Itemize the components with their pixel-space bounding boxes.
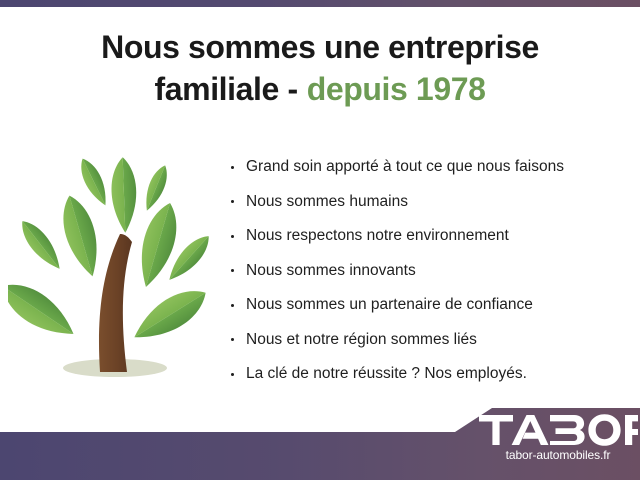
list-item: Nous sommes humains [228,185,628,220]
title-line-1: Nous sommes une entreprise [0,26,640,68]
top-accent-bar [0,0,640,7]
tree-illustration [8,150,223,385]
brand-tagline: tabor-automobiles.fr [478,448,638,462]
tree-trunk [99,234,132,372]
list-item: Grand soin apporté à tout ce que nous fa… [228,150,628,185]
list-item: Nous sommes un partenaire de confiance [228,288,628,323]
list-item: Nous sommes innovants [228,254,628,289]
list-item: Nous et notre région sommes liés [228,323,628,358]
title-line-2: familiale -depuis 1978 [0,68,640,110]
title-line-2-prefix: familiale - [154,71,297,107]
list-item: La clé de notre réussite ? Nos employés. [228,357,628,392]
title-accent-since-1978: depuis 1978 [307,71,486,107]
benefits-list: Grand soin apporté à tout ce que nous fa… [228,150,628,392]
page-title: Nous sommes une entreprise familiale -de… [0,26,640,110]
list-item: Nous respectons notre environnement [228,219,628,254]
brand-logo[interactable]: tabor-automobiles.fr [478,413,638,462]
slide-canvas: Nous sommes une entreprise familiale -de… [0,0,640,480]
tabor-wordmark [478,413,638,447]
